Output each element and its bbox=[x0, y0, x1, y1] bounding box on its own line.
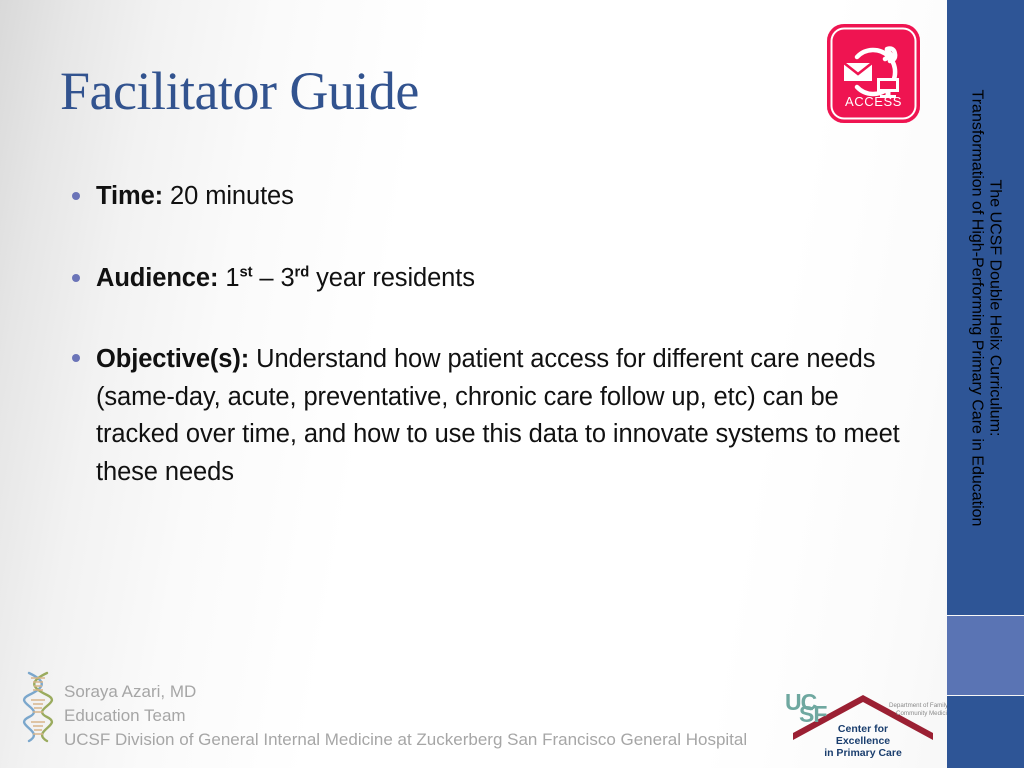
sidebar-rotated-text: The UCSF Double Helix Curriculum: Transf… bbox=[968, 89, 1004, 526]
bullet-text-audience: Audience: 1st – 3rd year residents bbox=[96, 260, 902, 298]
slide-canvas: The UCSF Double Helix Curriculum: Transf… bbox=[0, 0, 1024, 768]
bullet-text-time: Time: 20 minutes bbox=[96, 178, 902, 216]
bullet-value-time: 20 minutes bbox=[163, 182, 294, 210]
footer-team: Education Team bbox=[64, 704, 747, 728]
bullet-label-time: Time: bbox=[96, 182, 163, 210]
bullet-label-audience: Audience: bbox=[96, 264, 218, 292]
sidebar-band-bottom bbox=[947, 696, 1024, 768]
right-sidebar: The UCSF Double Helix Curriculum: Transf… bbox=[947, 0, 1024, 768]
access-logo: ACCESS bbox=[827, 24, 920, 123]
access-logo-label: ACCESS bbox=[827, 94, 920, 109]
sidebar-curriculum-title: The UCSF Double Helix Curriculum: bbox=[986, 179, 1004, 436]
svg-text:Department of Family &: Department of Family & bbox=[889, 702, 947, 709]
bullet-text-objective: Objective(s): Understand how patient acc… bbox=[96, 341, 902, 491]
sidebar-band-middle bbox=[947, 616, 1024, 695]
svg-text:Community Medicine: Community Medicine bbox=[896, 710, 947, 717]
svg-text:Center for: Center for bbox=[838, 723, 888, 735]
page-title: Facilitator Guide bbox=[60, 62, 419, 121]
footer: Soraya Azari, MD Education Team UCSF Div… bbox=[22, 671, 747, 752]
list-item-audience: Audience: 1st – 3rd year residents bbox=[72, 260, 902, 298]
svg-text:in Primary Care: in Primary Care bbox=[824, 747, 902, 759]
envelope-icon bbox=[844, 63, 872, 81]
bullet-value-audience-mid: – 3 bbox=[252, 264, 294, 292]
footer-affiliation: UCSF Division of General Internal Medici… bbox=[64, 728, 747, 752]
bullet-superscript-rd: rd bbox=[295, 264, 310, 280]
sidebar-curriculum-subtitle: Transformation of High-Performing Primar… bbox=[968, 89, 986, 526]
bullet-value-audience-prefix: 1 bbox=[218, 264, 239, 292]
sidebar-text-container: The UCSF Double Helix Curriculum: Transf… bbox=[947, 0, 1024, 615]
list-item-time: Time: 20 minutes bbox=[72, 178, 902, 216]
ucsf-wordmark: UC SF bbox=[785, 689, 827, 727]
footer-text: Soraya Azari, MD Education Team UCSF Div… bbox=[64, 680, 747, 752]
bullet-marker-icon bbox=[72, 274, 80, 282]
bullet-label-objective: Objective(s): bbox=[96, 345, 249, 373]
bullet-marker-icon bbox=[72, 192, 80, 200]
ucsf-cepc-logo: UC SF Department of Family & Community M… bbox=[779, 688, 947, 762]
bullet-superscript-st: st bbox=[239, 264, 252, 280]
svg-text:SF: SF bbox=[799, 701, 827, 727]
center-excellence-text: Center for Excellence in Primary Care bbox=[824, 723, 902, 759]
footer-author: Soraya Azari, MD bbox=[64, 680, 747, 704]
bullet-value-audience-suffix: year residents bbox=[309, 264, 475, 292]
dna-helix-icon bbox=[22, 671, 54, 750]
list-item-objective: Objective(s): Understand how patient acc… bbox=[72, 341, 902, 491]
svg-text:Excellence: Excellence bbox=[836, 735, 890, 747]
department-text: Department of Family & Community Medicin… bbox=[889, 702, 947, 717]
bullet-list: Time: 20 minutes Audience: 1st – 3rd yea… bbox=[72, 178, 902, 491]
bullet-marker-icon bbox=[72, 354, 80, 362]
